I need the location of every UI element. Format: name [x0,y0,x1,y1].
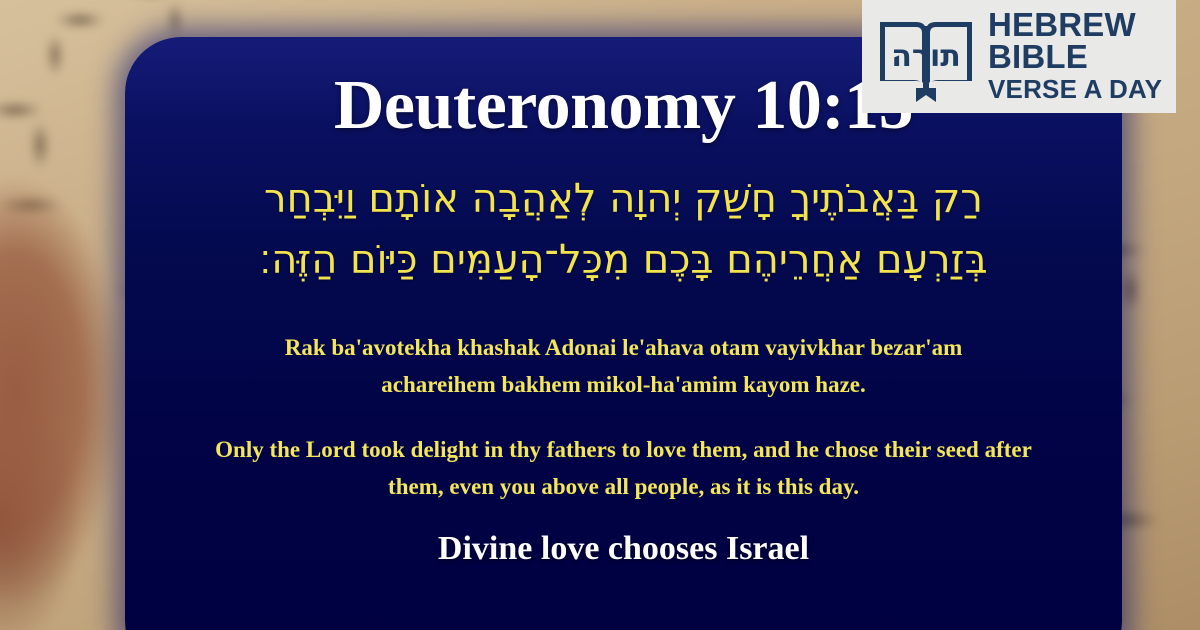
open-book-icon: תורה [874,8,978,106]
hebrew-line-1: רַק בַּאֲבֹתֶיךָ חָשַׁק יְהוָה לְאַהֲבָה… [174,169,1074,230]
brand-line-3: VERSE A DAY [988,75,1162,104]
english-translation-text: Only the Lord took delight in thy father… [204,431,1044,506]
brand-line-1: HEBREW [988,9,1162,41]
page-title: Deuteronomy 10:15 [334,71,913,141]
verse-panel: Deuteronomy 10:15 רַק בַּאֲבֹתֶיךָ חָשַׁ… [125,37,1122,630]
transliteration-text: Rak ba'avotekha khashak Adonai le'ahava … [244,329,1004,404]
svg-text:תורה: תורה [891,39,960,74]
verse-theme-caption: Divine love chooses Israel [438,530,809,568]
hebrew-line-2: בְּזַרְעָם אַחֲרֵיהֶם בָּכֶם מִכָּל־הָעַ… [174,230,1074,291]
verse-graphic: Deuteronomy 10:15 רַק בַּאֲבֹתֶיךָ חָשַׁ… [0,0,1200,630]
brand-logo-badge[interactable]: תורה HEBREW BIBLE VERSE A DAY [862,0,1176,113]
brand-line-2: BIBLE [988,41,1162,73]
hebrew-verse-text: רַק בַּאֲבֹתֶיךָ חָשַׁק יְהוָה לְאַהֲבָה… [174,169,1074,291]
brand-wordmark: HEBREW BIBLE VERSE A DAY [988,9,1162,104]
